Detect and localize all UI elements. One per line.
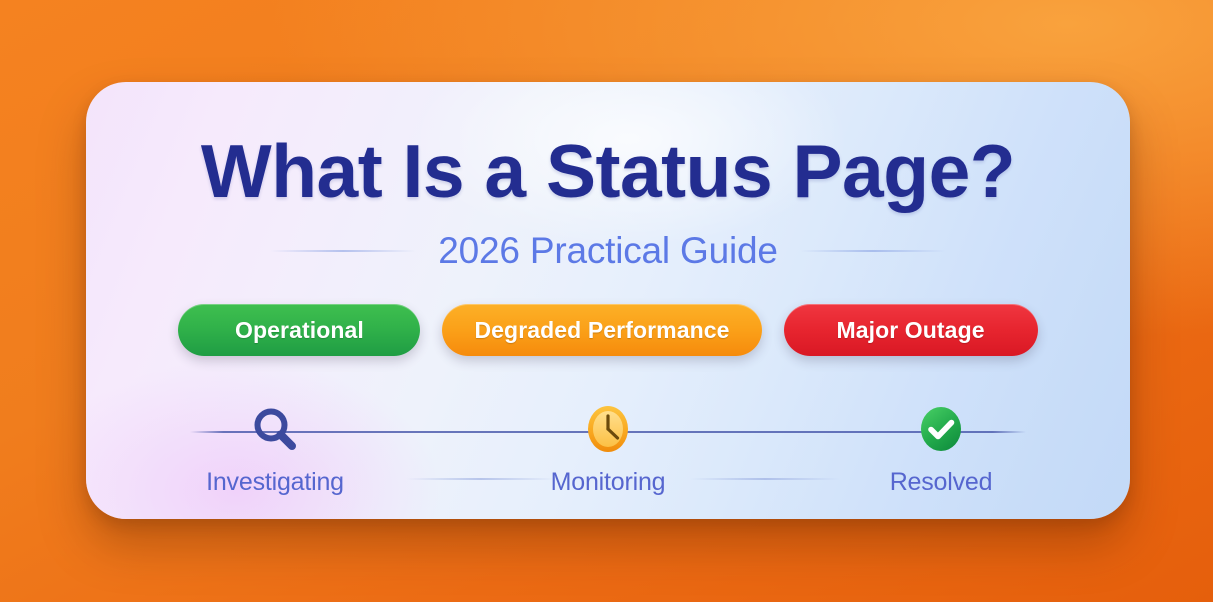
card-content: What Is a Status Page? 2026 Practical Gu… (86, 82, 1130, 519)
subtitle-rule-right (800, 250, 946, 252)
incident-timeline: Investigating (190, 397, 1026, 497)
timeline-step-monitoring[interactable]: Monitoring (523, 397, 693, 497)
subtitle-row: 2026 Practical Guide (86, 230, 1130, 272)
timeline-step-investigating[interactable]: Investigating (190, 397, 360, 497)
check-circle-icon (913, 403, 969, 459)
timeline-steps: Investigating (190, 397, 1026, 497)
timeline-step-label-investigating: Investigating (206, 468, 344, 497)
page-title: What Is a Status Page? (86, 134, 1130, 209)
subtitle-rule-left (270, 250, 416, 252)
status-page-card: What Is a Status Page? 2026 Practical Gu… (86, 82, 1130, 519)
status-pill-degraded-performance[interactable]: Degraded Performance (442, 304, 761, 356)
page-subtitle: 2026 Practical Guide (438, 230, 777, 272)
status-pill-group: Operational Degraded Performance Major O… (86, 304, 1130, 356)
status-pill-major-outage[interactable]: Major Outage (784, 304, 1038, 356)
timeline-step-resolved[interactable]: Resolved (856, 397, 1026, 497)
magnifying-glass-icon (247, 403, 303, 459)
clock-icon (580, 403, 636, 459)
timeline-step-label-resolved: Resolved (890, 468, 993, 497)
timeline-step-label-monitoring: Monitoring (551, 468, 666, 497)
status-pill-operational[interactable]: Operational (178, 304, 420, 356)
